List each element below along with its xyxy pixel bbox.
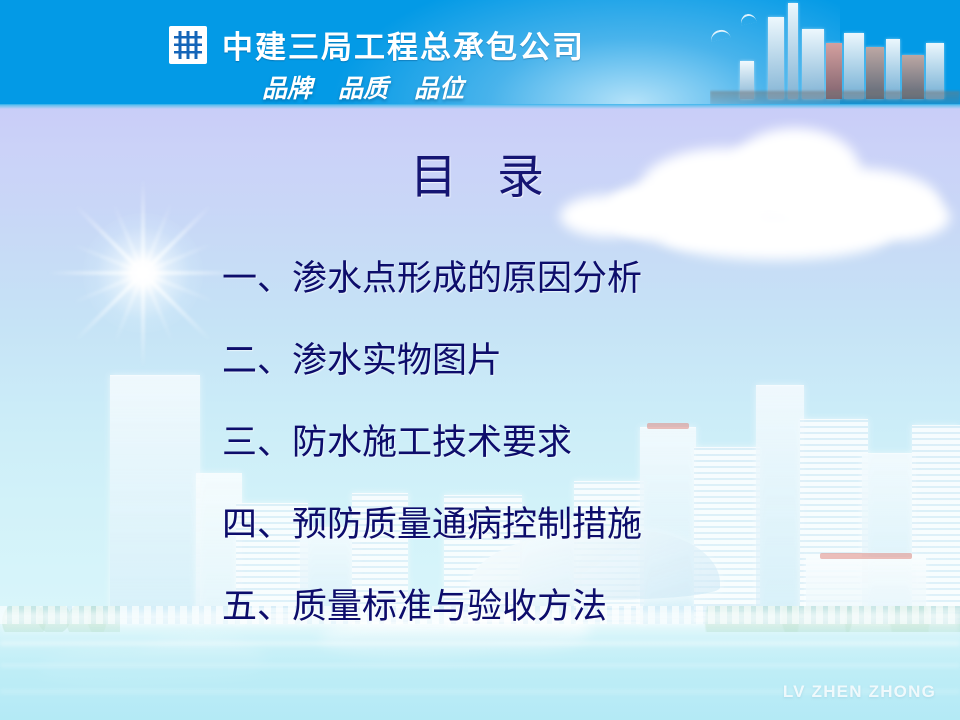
toc-item-4[interactable]: 四、预防质量通病控制措施 bbox=[222, 484, 822, 566]
toc-item-3[interactable]: 三、防水施工技术要求 bbox=[222, 402, 822, 484]
company-banner: 中建三局工程总承包公司 品牌品质品位 bbox=[0, 0, 960, 105]
page-title-char-1: 目 bbox=[410, 152, 463, 204]
slogan-word-3: 品位 bbox=[414, 76, 464, 103]
cscec-emblem-icon bbox=[169, 26, 207, 64]
toc-item-2[interactable]: 二、渗水实物图片 bbox=[222, 320, 822, 402]
company-slogan: 品牌品质品位 bbox=[262, 69, 464, 105]
banner-divider bbox=[0, 104, 960, 109]
company-name: 中建三局工程总承包公司 bbox=[222, 22, 585, 67]
toc-item-5[interactable]: 五、质量标准与验收方法 bbox=[222, 566, 822, 648]
banner-skyline-photo bbox=[710, 0, 960, 105]
page-title: 目录 bbox=[0, 138, 960, 207]
toc-item-1[interactable]: 一、渗水点形成的原因分析 bbox=[222, 238, 822, 320]
slogan-word-1: 品牌 bbox=[262, 76, 312, 103]
presentation-slide: 中建三局工程总承包公司 品牌品质品位 目录 一、渗水点形成的原因分析 二、渗水实… bbox=[0, 0, 960, 720]
page-title-char-2: 录 bbox=[497, 152, 550, 204]
table-of-contents: 一、渗水点形成的原因分析 二、渗水实物图片 三、防水施工技术要求 四、预防质量通… bbox=[222, 238, 822, 648]
author-watermark: LV ZHEN ZHONG bbox=[783, 682, 936, 702]
slogan-word-2: 品质 bbox=[338, 76, 388, 103]
